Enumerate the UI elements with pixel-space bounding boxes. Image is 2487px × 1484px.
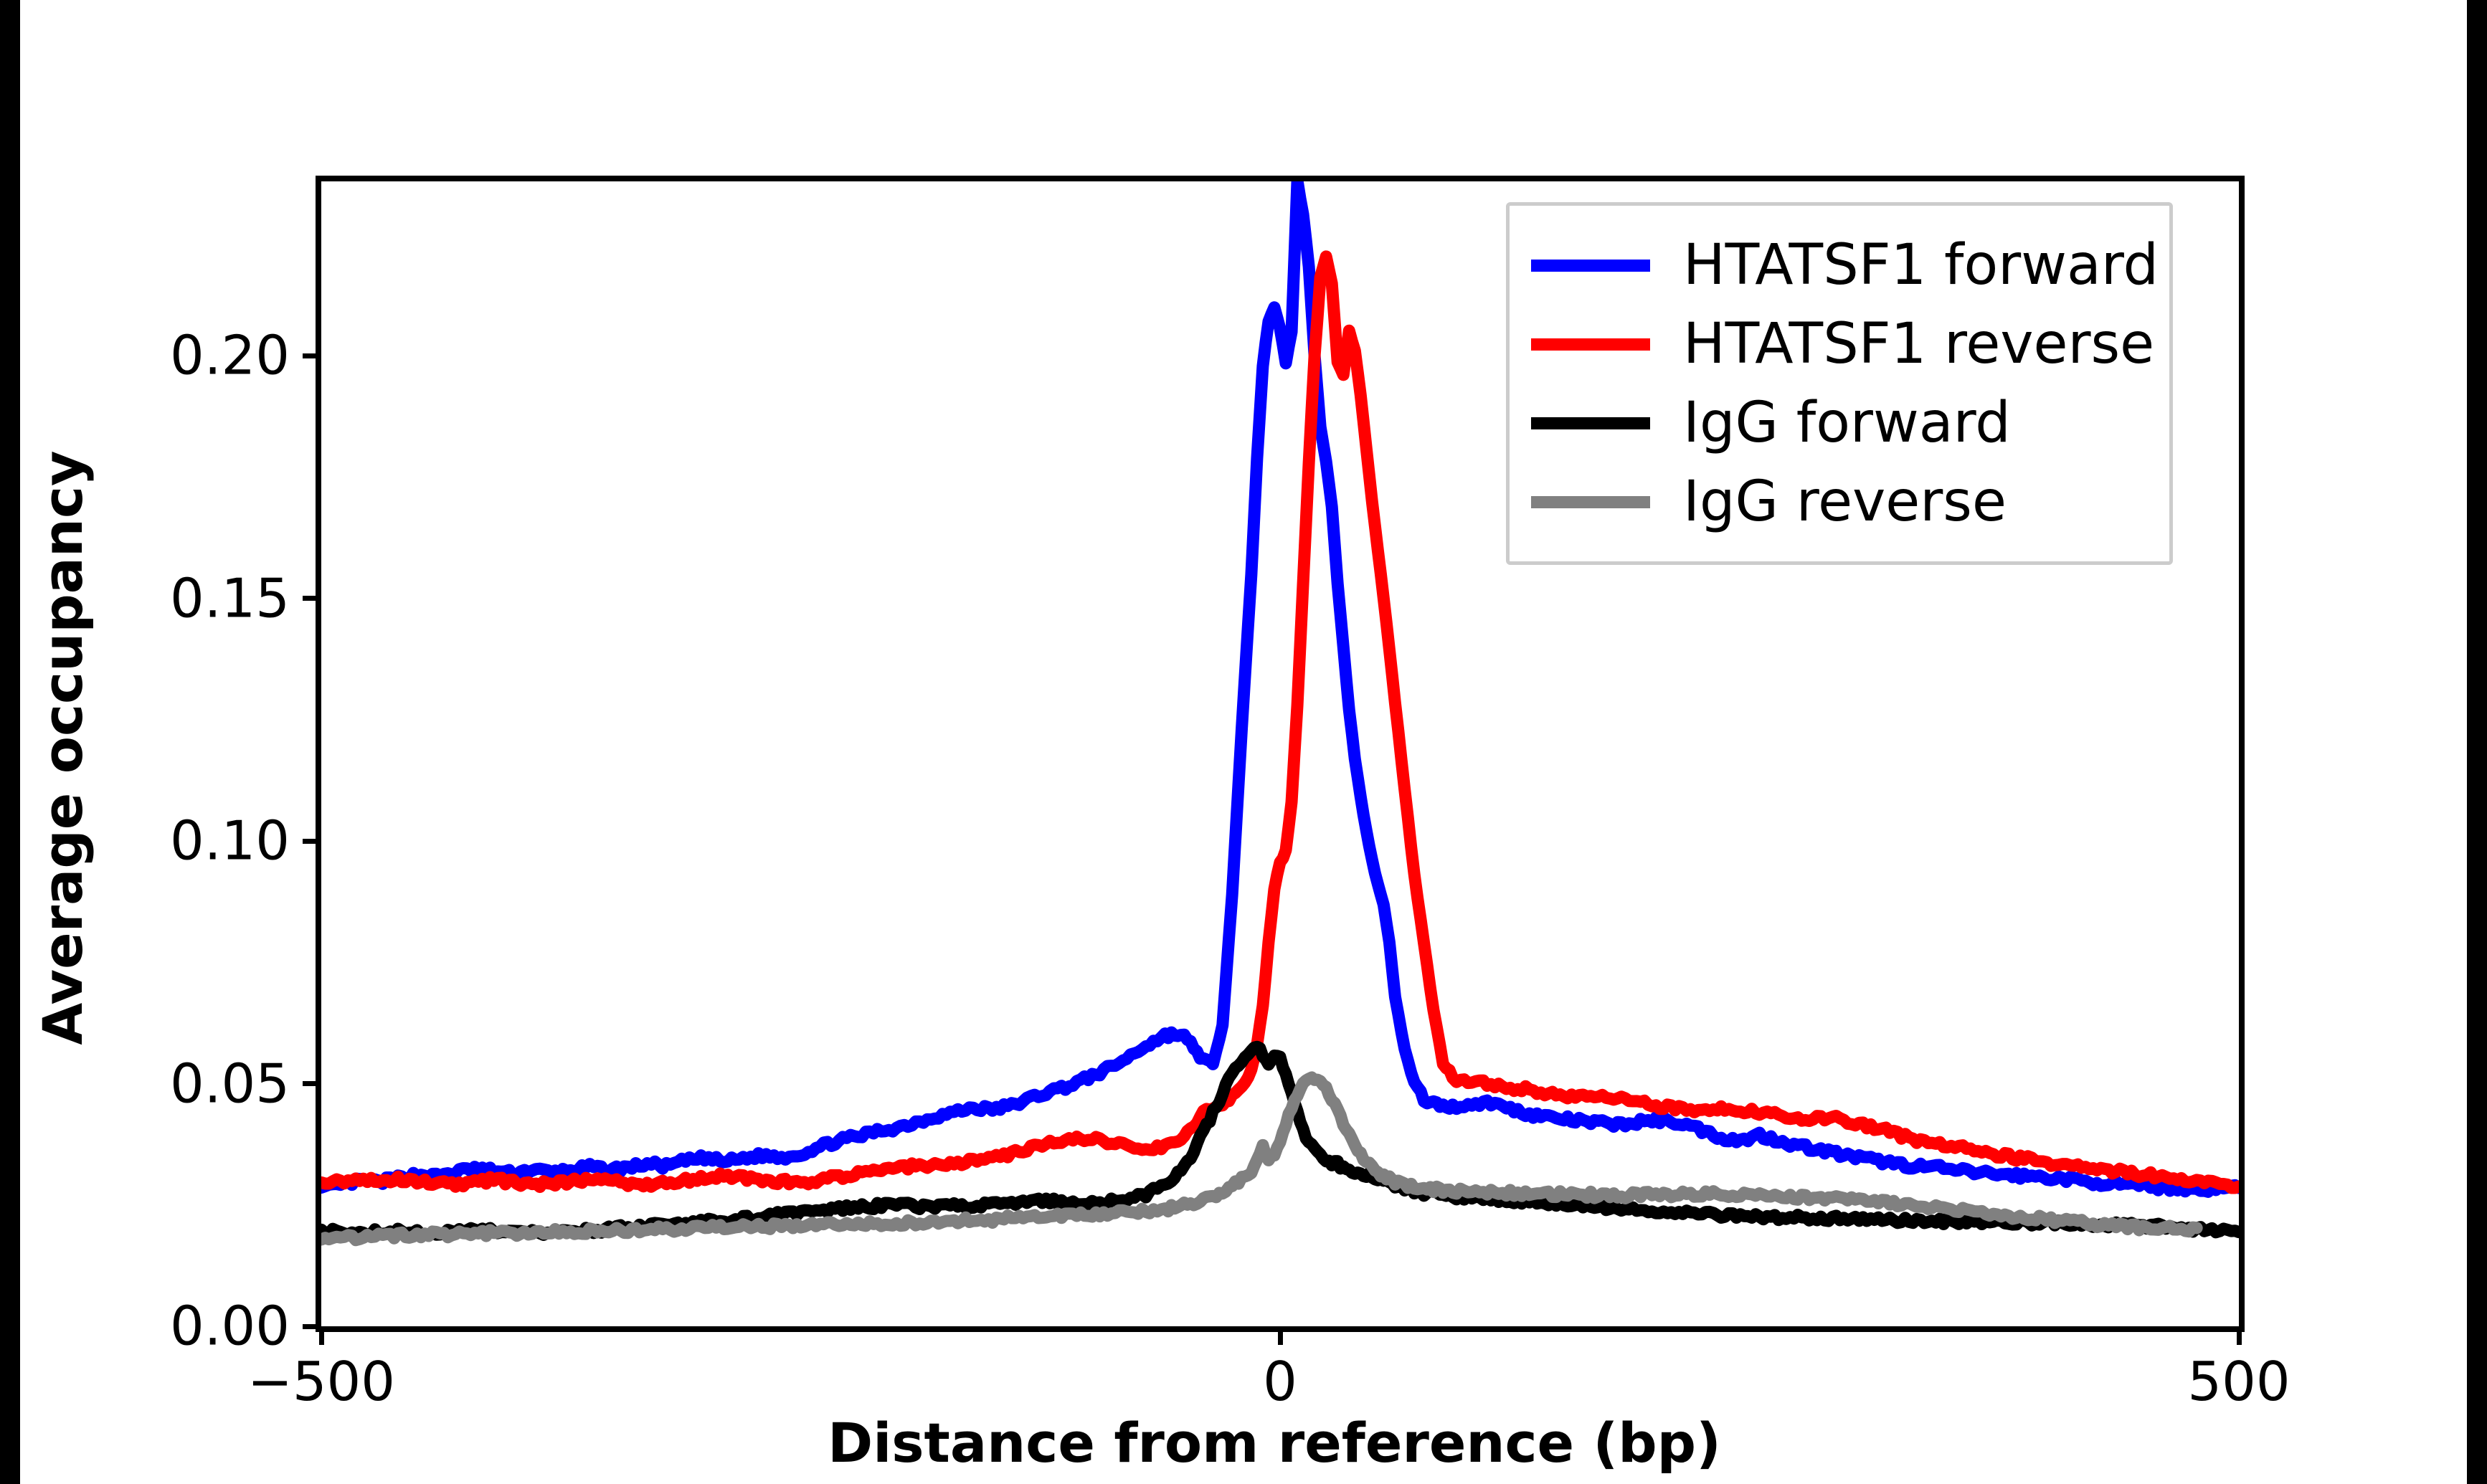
legend-item-label: HTATSF1 reverse — [1683, 316, 2154, 372]
x-tick-label: 500 — [2187, 1355, 2290, 1409]
figure-canvas: Average occupancy Distance from referenc… — [20, 0, 2467, 1484]
legend-item[interactable]: HTATSF1 reverse — [1531, 305, 2148, 384]
legend-color-swatch — [1531, 496, 1650, 508]
y-tick-label: 0.10 — [170, 814, 290, 868]
legend-item-label: IgG forward — [1683, 395, 2011, 451]
x-tick-label: −500 — [247, 1355, 395, 1409]
x-tick-label: 0 — [1263, 1355, 1297, 1409]
y-tick-mark — [303, 353, 321, 358]
legend-color-swatch — [1531, 260, 1650, 272]
legend-color-swatch — [1531, 338, 1650, 351]
y-axis-title: Average occupancy — [36, 450, 90, 1045]
x-tick-mark — [2237, 1326, 2242, 1345]
legend-item[interactable]: HTATSF1 forward — [1531, 226, 2148, 305]
y-tick-label: 0.20 — [170, 329, 290, 383]
x-axis-title: Distance from reference (bp) — [316, 1416, 2233, 1470]
y-tick-label: 0.00 — [170, 1300, 290, 1354]
y-tick-mark — [303, 596, 321, 601]
x-tick-mark — [1278, 1326, 1283, 1345]
x-tick-mark — [319, 1326, 324, 1345]
y-tick-label: 0.05 — [170, 1057, 290, 1110]
legend-item-label: IgG reverse — [1683, 474, 2007, 530]
chart-legend: HTATSF1 forwardHTATSF1 reverseIgG forwar… — [1506, 202, 2173, 565]
y-tick-mark — [303, 1081, 321, 1086]
legend-item[interactable]: IgG forward — [1531, 384, 2148, 462]
y-tick-label: 0.15 — [170, 571, 290, 625]
y-tick-mark — [303, 839, 321, 844]
legend-color-swatch — [1531, 417, 1650, 429]
legend-item[interactable]: IgG reverse — [1531, 462, 2148, 541]
legend-item-label: HTATSF1 forward — [1683, 237, 2159, 293]
